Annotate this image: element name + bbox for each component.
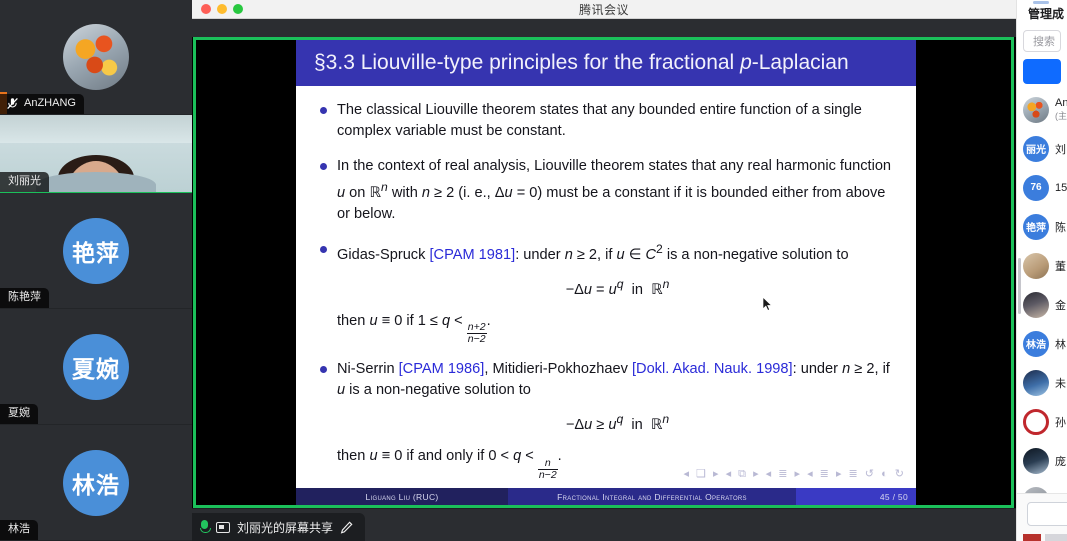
slide-title-bar: §3.3 Liouville-type principles for the f… (296, 40, 916, 86)
avatar (1023, 97, 1049, 123)
footer-page-number: 45 / 50 (796, 488, 916, 505)
participant-name: 董 (1055, 258, 1066, 274)
screen-share-icon (216, 522, 230, 533)
bullet-text: In the context of real analysis, Liouvil… (337, 156, 898, 225)
mic-muted-icon (6, 97, 19, 110)
avatar (1023, 448, 1049, 474)
reference-link-cpam-1986[interactable]: [CPAM 1986] (399, 361, 485, 377)
avatar: 林浩 (63, 450, 129, 516)
share-chip-label: 刘丽光的屏幕共享 (237, 519, 333, 536)
pencil-icon[interactable] (340, 521, 353, 534)
window-title: 腾讯会议 (192, 1, 1016, 18)
participant-row[interactable]: 庞 (1017, 441, 1067, 480)
participant-row[interactable]: 董 (1017, 246, 1067, 285)
participant-name: 庞 (1055, 453, 1066, 469)
participant-name: 刘 (1055, 141, 1066, 157)
screen-share-status-chip[interactable]: 刘丽光的屏幕共享 (192, 513, 365, 541)
video-background (0, 115, 192, 143)
video-tile-chenyanping[interactable]: 艳萍 陈艳萍 (0, 193, 192, 309)
participant-row[interactable]: 孙 (1017, 402, 1067, 441)
bullet-text: Ni-Serrin [CPAM 1986], Mitidieri-Pokhozh… (337, 359, 898, 481)
participant-row[interactable]: 76 15 (1017, 168, 1067, 207)
participants-search-box[interactable]: 搜索 (1023, 30, 1061, 52)
participant-name: 陈 (1055, 219, 1066, 235)
slide-bullet-3: Gidas-Spruck [CPAM 1981]: under n ≥ 2, i… (320, 239, 898, 345)
avatar (63, 24, 129, 90)
participants-panel: 管理成 搜索 An (主 丽光 刘 76 (1016, 0, 1067, 541)
equation-ni-serrin: −Δu ≥ uq in ℝn (337, 409, 898, 436)
screen-share-frame: §3.3 Liouville-type principles for the f… (193, 37, 1014, 508)
avatar: 夏婉 (63, 334, 129, 400)
slide-footer: Liguang Liu (RUC) Fractional Integral an… (296, 488, 916, 505)
leave-meeting-button[interactable] (1023, 534, 1041, 541)
participant-row[interactable]: 金 (1017, 285, 1067, 324)
tile-name-text: AnZHANG (24, 97, 76, 110)
stage-bottom-bar: 刘丽光的屏幕共享 (192, 508, 1016, 541)
slide-body: The classical Liouville theorem states t… (296, 86, 916, 485)
participant-name: 未 (1055, 375, 1066, 391)
shared-screen-stage: 腾讯会议 §3.3 Liouville-type principles for … (192, 0, 1016, 541)
slide-bullet-4: Ni-Serrin [CPAM 1986], Mitidieri-Pokhozh… (320, 359, 898, 481)
tile-name-label: 林浩 (0, 520, 38, 540)
footer-author: Liguang Liu (RUC) (296, 488, 508, 505)
beamer-navigation-symbols[interactable]: ◂ ❑ ▸ ◂ ⧉ ▸ ◂ ≣ ▸ ◂ ≣ ▸ ≣ ↺ ◐ ↻ (684, 467, 906, 481)
panel-footer-secondary[interactable] (1045, 534, 1067, 541)
participant-name: 15 (1055, 182, 1067, 194)
participants-search-placeholder: 搜索 (1033, 33, 1055, 49)
slide-title-text: §3.3 Liouville-type principles for the f… (314, 51, 849, 75)
meeting-window: AnZHANG 刘丽光 艳萍 陈艳萍 夏婉 夏婉 (0, 0, 1067, 541)
participant-name: An (1055, 97, 1067, 109)
participants-scrollbar[interactable] (1018, 258, 1021, 314)
panel-drag-handle[interactable] (1033, 1, 1049, 4)
gidas-spruck-conclusion: then u ≡ 0 if 1 ≤ q < n+2n−2. (337, 311, 898, 346)
avatar: 林浩 (1023, 331, 1049, 357)
participant-filmstrip: AnZHANG 刘丽光 艳萍 陈艳萍 夏婉 夏婉 (0, 0, 192, 541)
footer-title: Fractional Integral and Differential Ope… (508, 488, 796, 505)
bullet-text: Gidas-Spruck [CPAM 1981]: under n ≥ 2, i… (337, 239, 898, 345)
participant-name: 金 (1055, 297, 1066, 313)
participant-row[interactable]: 未 (1017, 363, 1067, 402)
tile-name-label: 陈艳萍 (0, 288, 49, 308)
participant-name: 林 (1055, 336, 1066, 352)
avatar: 丽光 (1023, 136, 1049, 162)
participant-info: An (主 (1055, 97, 1067, 122)
person-shoulders (36, 172, 156, 193)
bullet-dot-icon (320, 163, 327, 170)
reference-link-cpam-1981[interactable]: [CPAM 1981] (429, 247, 515, 263)
avatar (1023, 253, 1049, 279)
avatar (1023, 370, 1049, 396)
video-tile-xiawan[interactable]: 夏婉 夏婉 (0, 309, 192, 425)
participant-row[interactable]: 艳萍 陈 (1017, 207, 1067, 246)
bullet-text: The classical Liouville theorem states t… (337, 100, 898, 142)
bullet-dot-icon (320, 246, 327, 253)
tile-name-label: 夏婉 (0, 404, 38, 424)
participants-list[interactable]: An (主 丽光 刘 76 15 艳萍 陈 董 金 (1017, 90, 1067, 519)
panel-footer-button[interactable] (1027, 502, 1067, 526)
tile-name-label: 刘丽光 (0, 172, 49, 192)
bullet-dot-icon (320, 366, 327, 373)
avatar (1023, 292, 1049, 318)
slide-bullet-1: The classical Liouville theorem states t… (320, 100, 898, 142)
avatar: 76 (1023, 175, 1049, 201)
participants-panel-title: 管理成 (1028, 5, 1064, 22)
avatar (1023, 409, 1049, 435)
video-tile-linhao[interactable]: 林浩 林浩 (0, 425, 192, 541)
avatar: 艳萍 (63, 218, 129, 284)
shared-window-titlebar: 腾讯会议 (192, 0, 1016, 19)
slide-bullet-2: In the context of real analysis, Liouvil… (320, 156, 898, 225)
video-tile-anzhang[interactable]: AnZHANG (0, 0, 192, 115)
bullet-dot-icon (320, 107, 327, 114)
equation-gidas-spruck: −Δu = uq in ℝn (337, 274, 898, 301)
participant-name: 孙 (1055, 414, 1066, 430)
microphone-icon[interactable] (200, 520, 209, 535)
participant-role: (主 (1055, 109, 1067, 122)
participant-row[interactable]: An (主 (1017, 90, 1067, 129)
participant-row[interactable]: 丽光 刘 (1017, 129, 1067, 168)
participants-panel-footer (1017, 493, 1067, 541)
participant-row[interactable]: 林浩 林 (1017, 324, 1067, 363)
video-tile-liuliguang[interactable]: 刘丽光 (0, 115, 192, 193)
tile-name-label: AnZHANG (0, 94, 84, 114)
stage-top-strip (192, 19, 1016, 37)
avatar: 艳萍 (1023, 214, 1049, 240)
presentation-slide: §3.3 Liouville-type principles for the f… (296, 40, 916, 505)
participants-primary-button[interactable] (1023, 59, 1061, 84)
reference-link-dokl-1998[interactable]: [Dokl. Akad. Nauk. 1998] (632, 361, 793, 377)
